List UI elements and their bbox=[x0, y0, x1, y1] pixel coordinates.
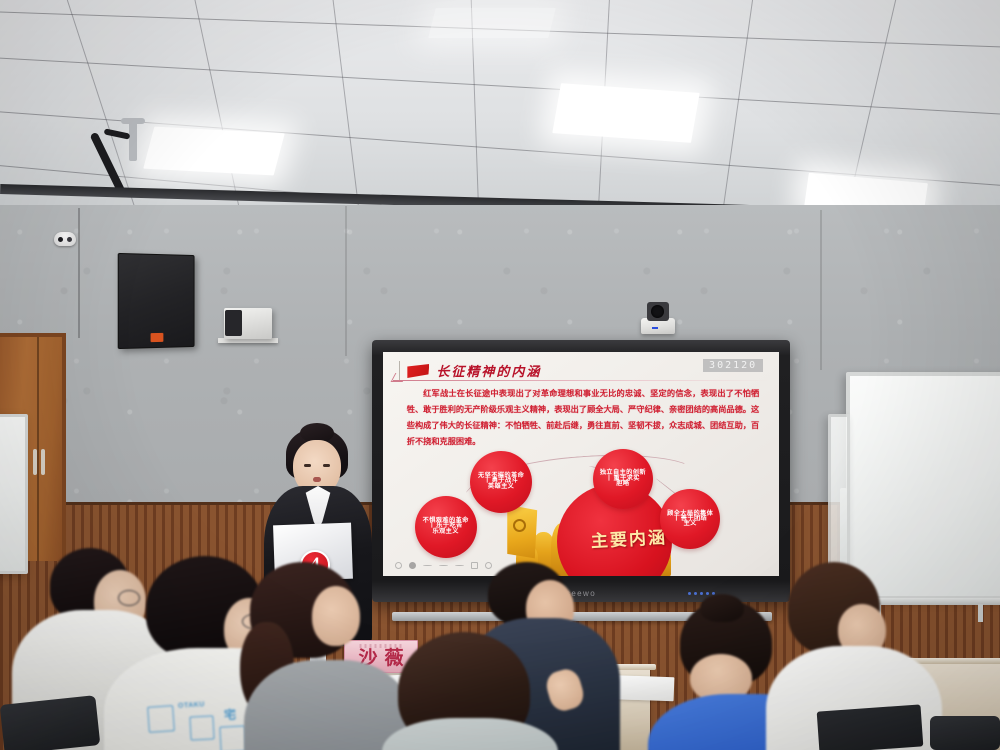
camera-lens-icon bbox=[651, 305, 664, 318]
attendee-hair-bun bbox=[700, 594, 744, 622]
tshirt-print-box bbox=[189, 715, 214, 740]
diagram-node-top-left: 勇于战斗 无坚不摧的革命 英雄主义 bbox=[470, 451, 532, 513]
node-head: 乐于吃苦 bbox=[429, 521, 463, 532]
attendee-long-hair bbox=[392, 632, 552, 750]
display-indicator-dots bbox=[688, 592, 715, 595]
hub-label: 主要内涵 bbox=[590, 529, 667, 552]
ceiling-light-panel bbox=[143, 127, 284, 176]
node-head: 善于团结 bbox=[673, 514, 707, 525]
wall-seam bbox=[78, 208, 80, 338]
ceiling-light-panel bbox=[552, 83, 699, 143]
record-icon[interactable] bbox=[409, 562, 416, 569]
presenter-eye-right bbox=[323, 464, 330, 467]
node-head: 重于求实 bbox=[606, 474, 640, 485]
display-screen[interactable]: 长征精神的内涵 302120 红军战士在长征途中表现出了对革命理想和事业无比的忠… bbox=[383, 352, 779, 576]
diagram-node-top-right: 重于求实 独立自主的创新 胆略 bbox=[593, 449, 653, 509]
wall-seam bbox=[820, 210, 822, 370]
chair-back bbox=[0, 695, 100, 750]
camera-status-led bbox=[652, 327, 658, 329]
title-underline bbox=[393, 380, 769, 381]
display-code-overlay: 302120 bbox=[703, 359, 763, 372]
presentation-slide: 长征精神的内涵 302120 红军战士在长征途中表现出了对革命理想和事业无比的忠… bbox=[383, 352, 779, 576]
slide-title-row: 长征精神的内涵 bbox=[399, 361, 542, 381]
attendee-grey-blazer bbox=[232, 562, 392, 750]
slide-body-text: 红军战士在长征途中表现出了对革命理想和事业无比的忠诚、坚定的信念，表现出了不怕牺… bbox=[407, 386, 759, 450]
slide-body-paragraph: 红军战士在长征途中表现出了对革命理想和事业无比的忠诚、坚定的信念，表现出了不怕牺… bbox=[407, 386, 759, 450]
diagram-node-right: 善于团结 顾全大局的集体 主义 bbox=[660, 489, 720, 549]
ceiling bbox=[0, 0, 1000, 215]
cursor-icon[interactable] bbox=[439, 565, 448, 566]
node-head: 勇于战斗 bbox=[484, 476, 518, 487]
slide-title: 长征精神的内涵 bbox=[436, 361, 541, 380]
chair-back bbox=[930, 716, 1000, 750]
tshirt-print-box bbox=[147, 705, 175, 733]
classroom-photo-scene: 长征精神的内涵 302120 红军战士在长征途中表现出了对革命理想和事业无比的忠… bbox=[0, 0, 1000, 750]
ceiling-light-panel bbox=[428, 8, 555, 38]
slide-diagram: 主要内涵 勇于战斗 无坚不摧的革命 英雄主义 重于求实 独立自主的创新 胆略 bbox=[383, 451, 779, 576]
wall-speaker bbox=[118, 253, 195, 349]
projector-lens-icon bbox=[225, 310, 242, 336]
pen-icon[interactable] bbox=[423, 565, 432, 566]
red-flag-icon bbox=[407, 364, 429, 378]
speaker-brand-logo bbox=[151, 333, 164, 342]
dome-camera-icon bbox=[54, 232, 76, 246]
presenter-mouth bbox=[313, 477, 321, 482]
eraser-icon[interactable] bbox=[455, 565, 464, 566]
circle-icon[interactable] bbox=[395, 562, 402, 569]
presenter-eye-left bbox=[304, 464, 311, 467]
projector-pole bbox=[129, 121, 137, 161]
laptop-lid bbox=[817, 704, 924, 750]
diagram-node-left: 乐于吃苦 不惧艰难的革命 乐观主义 bbox=[415, 496, 477, 558]
whiteboard-leg bbox=[978, 604, 983, 622]
monument-flag-icon bbox=[507, 505, 537, 561]
wall-seam bbox=[345, 206, 347, 356]
attendee-head bbox=[312, 586, 360, 646]
emblem-icon bbox=[513, 519, 526, 532]
projector-arm-bracket bbox=[104, 128, 131, 139]
